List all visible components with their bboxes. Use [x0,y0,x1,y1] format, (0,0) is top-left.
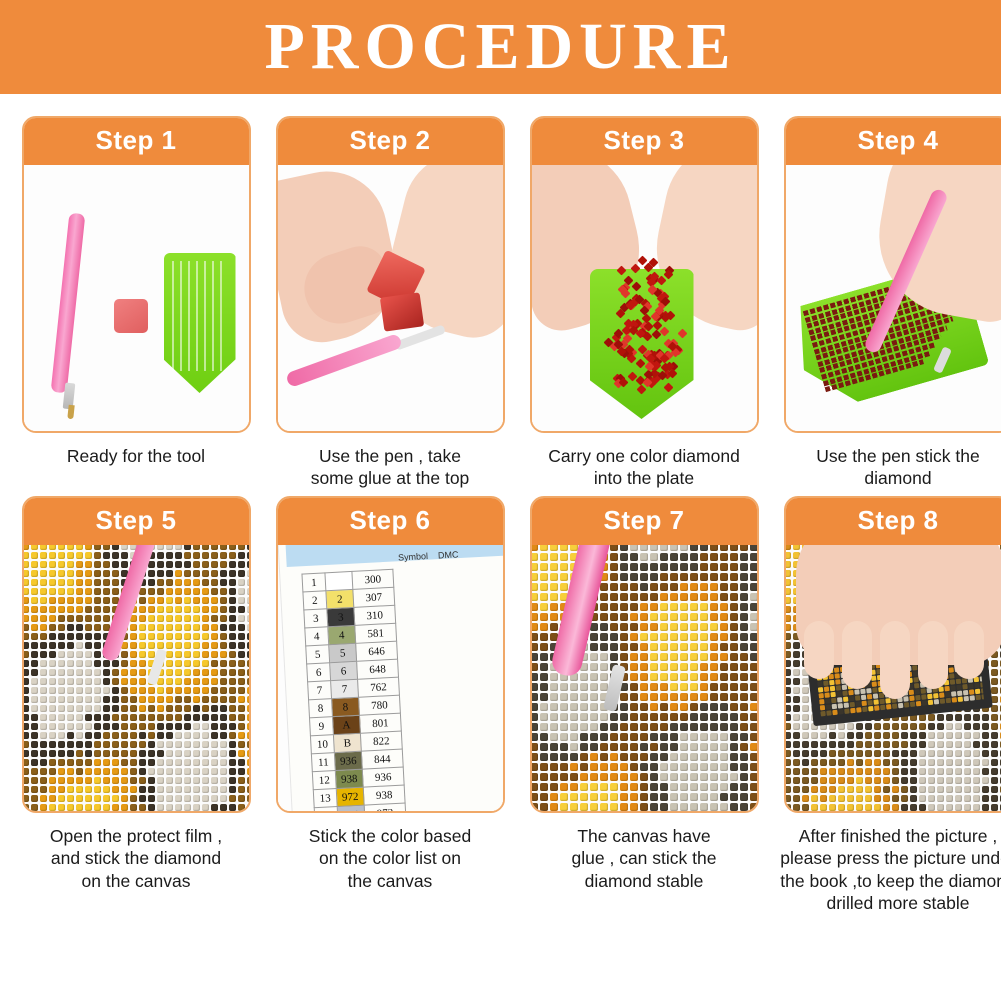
step-caption-6: Stick the color based on the color list … [272,825,508,892]
step-cell-1: Step 1 Ready for the tool [18,116,254,490]
step-caption-2: Use the pen , take some glue at the top [272,445,508,490]
step-cell-2: Step 2 Use the pen , take some glue at t… [272,116,508,490]
step-caption-4: Use the pen stick the diamond [780,445,1001,490]
step-cell-7: Step 7 The canvas have glue , can stick … [526,496,762,915]
step-header-1: Step 1 [24,118,249,165]
step-image-6: Symbol DMC 13002230733310445815564666648… [278,545,503,811]
step-card-5: Step 5 [22,496,251,813]
wax-square-icon [114,299,148,333]
page-banner: PROCEDURE [0,0,1001,94]
step-cell-3: Step 3 Carry one color diamond into the … [526,116,762,490]
step-image-8 [786,545,1001,811]
step-header-6: Step 6 [278,498,503,545]
step-image-7 [532,545,757,811]
step-image-5 [24,545,249,811]
red-diamonds-icon [598,257,690,397]
step-cell-8: Step 8 After finished the picture , plea… [780,496,1001,915]
color-chart-table: 1300223073331044581556466664877762887809… [301,569,406,811]
step-card-1: Step 1 [22,116,251,433]
step-image-3 [532,165,757,431]
step-image-2 [278,165,503,431]
glued-canvas-icon [532,545,757,811]
step-card-8: Step 8 [784,496,1001,813]
step-header-2: Step 2 [278,118,503,165]
step-image-1 [24,165,249,431]
step-header-7: Step 7 [532,498,757,545]
step-header-8: Step 8 [786,498,1001,545]
steps-grid: Step 1 Ready for the tool Step 2 [0,94,1001,914]
step-card-3: Step 3 [530,116,759,433]
step-caption-8: After finished the picture , please pres… [780,825,1001,915]
step-image-4 [786,165,1001,431]
step-cell-4: Step 4 Use the pen stick the diamond [780,116,1001,490]
step-header-5: Step 5 [24,498,249,545]
step-caption-7: The canvas have glue , can stick the dia… [526,825,762,892]
step-cell-5: Step 5 Open the protect film , and stick… [18,496,254,915]
step-card-7: Step 7 [530,496,759,813]
step-header-4: Step 4 [786,118,1001,165]
step-caption-3: Carry one color diamond into the plate [526,445,762,490]
step-card-2: Step 2 [276,116,505,433]
step-card-4: Step 4 [784,116,1001,433]
page-title: PROCEDURE [264,14,736,80]
step-cell-6: Step 6 Symbol DMC 1300223073331044581556… [272,496,508,915]
step-caption-5: Open the protect film , and stick the di… [18,825,254,892]
step-header-3: Step 3 [532,118,757,165]
step-caption-1: Ready for the tool [18,445,254,467]
step-card-6: Step 6 Symbol DMC 1300223073331044581556… [276,496,505,813]
